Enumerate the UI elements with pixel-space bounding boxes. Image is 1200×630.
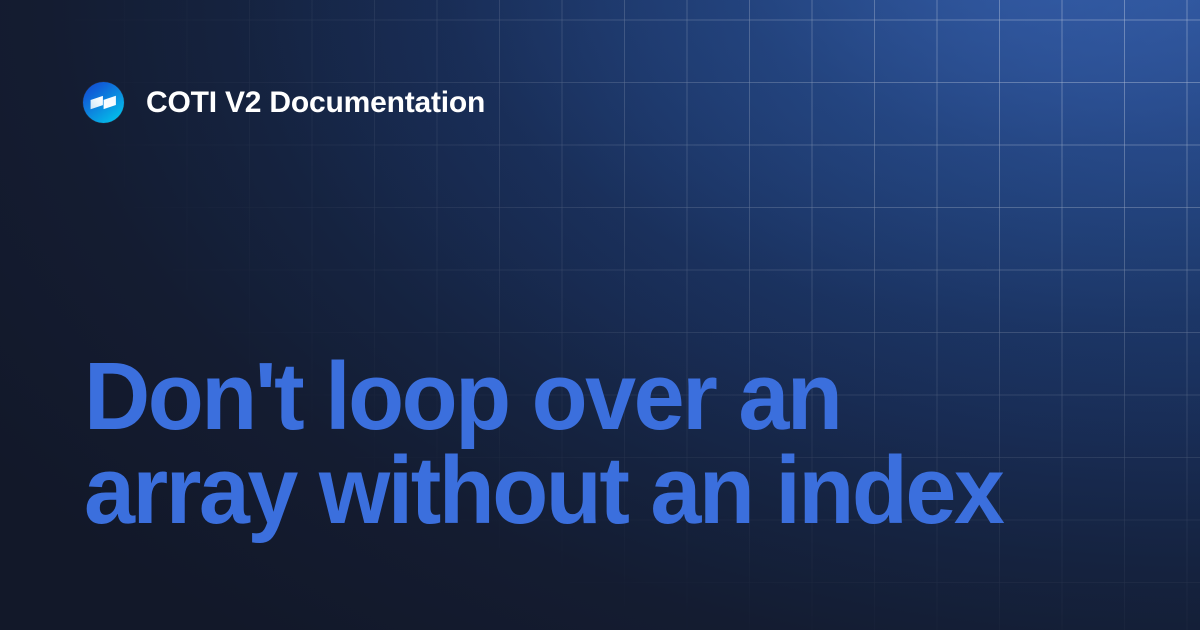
brand-title: COTI V2 Documentation <box>146 88 485 118</box>
brand-lockup: COTI V2 Documentation <box>83 82 485 123</box>
page-title: Don't loop over an array without an inde… <box>84 350 1077 538</box>
og-card: COTI V2 Documentation Don't loop over an… <box>0 0 1200 630</box>
coti-ribbon-logo-icon <box>83 82 124 123</box>
